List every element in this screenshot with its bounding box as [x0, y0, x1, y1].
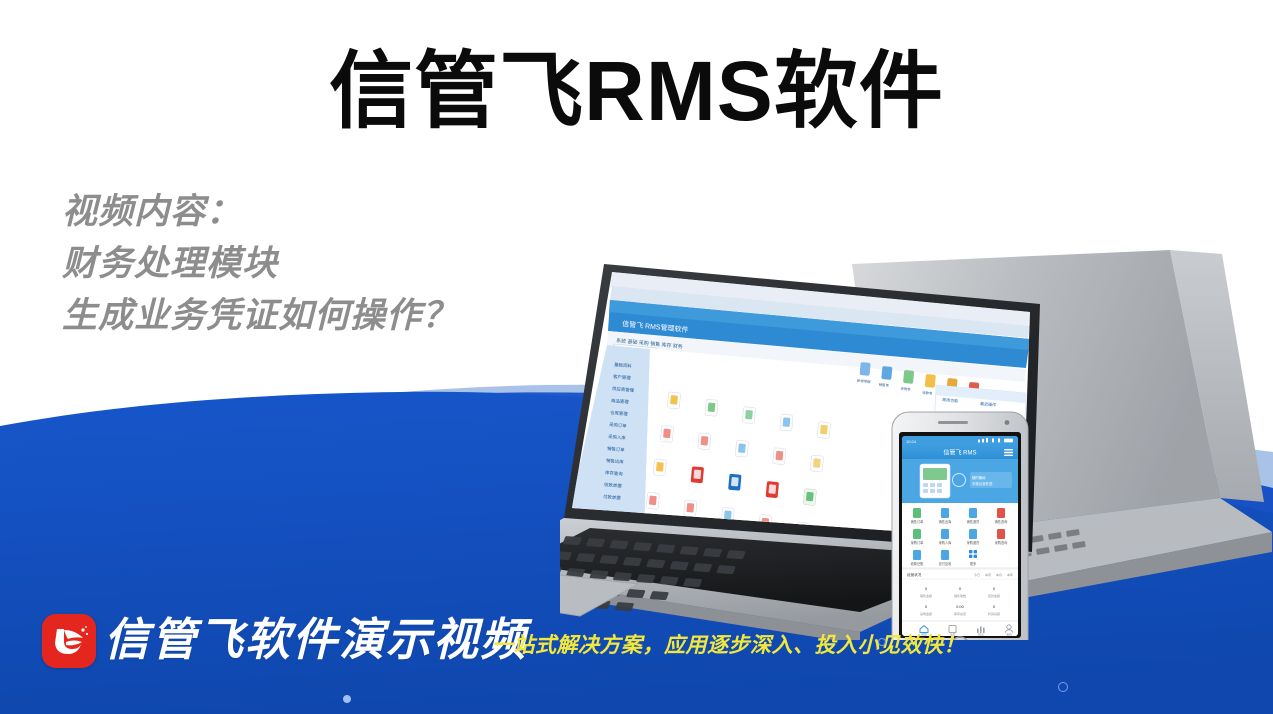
svg-text:销售订单: 销售订单 [911, 519, 925, 524]
svg-text:回款金额: 回款金额 [988, 593, 1000, 598]
svg-text:采购订单: 采购订单 [911, 540, 925, 545]
svg-text:销售金额: 销售金额 [920, 593, 932, 598]
svg-text:随时随地: 随时随地 [972, 475, 986, 480]
decorative-dot [878, 638, 886, 646]
svg-text:本年: 本年 [1007, 572, 1013, 577]
svg-text:10:24: 10:24 [906, 439, 917, 444]
subtitle-line-1: 视频内容： [62, 186, 458, 238]
svg-text:销售单: 销售单 [879, 382, 890, 388]
svg-text:经营状况: 经营状况 [907, 572, 922, 577]
svg-text:更多: 更多 [970, 561, 976, 566]
svg-text:我的: 我的 [1006, 632, 1012, 636]
svg-text:收款记账: 收款记账 [911, 561, 925, 566]
svg-text:库存总值: 库存总值 [954, 611, 966, 616]
svg-text:今日: 今日 [974, 572, 980, 577]
svg-text:本周: 本周 [985, 572, 991, 577]
svg-text:掌握经营数据: 掌握经营数据 [972, 481, 993, 486]
brand-tagline: 一站式解决方案，应用逐步深入、投入小见效快！ [492, 632, 965, 660]
svg-text:销售退货: 销售退货 [967, 519, 980, 524]
svg-text:本月: 本月 [996, 572, 1002, 577]
subtitle-line-2: 财务处理模块 [62, 238, 458, 290]
svg-text:采购入库: 采购入库 [939, 540, 953, 545]
slide-canvas: 信管飞RMS软件 视频内容： 财务处理模块 生成业务凭证如何操作？ [0, 0, 1273, 714]
phone-device: 10:24 信管飞 RMS [892, 412, 1028, 640]
phone-hamburger-menu-icon [1004, 449, 1013, 456]
svg-text:利润总额: 利润总额 [988, 611, 1000, 616]
svg-text:信管飞 RMS: 信管飞 RMS [943, 449, 976, 457]
phone-front-camera-icon [1005, 420, 1010, 425]
decorative-dot [1058, 682, 1068, 692]
svg-text:采购金额: 采购金额 [920, 611, 932, 616]
svg-text:销售查询: 销售查询 [995, 519, 1008, 524]
flying-bird-logo-icon [42, 614, 96, 668]
svg-text:0.00: 0.00 [956, 604, 965, 609]
svg-text:销售出库: 销售出库 [939, 519, 953, 524]
svg-text:收款单: 收款单 [922, 390, 933, 396]
svg-text:采购查询: 采购查询 [995, 540, 1008, 545]
device-showcase-image: 信管飞 RMS管理软件 系统 基础 采购 销售 库存 财务 工作台 基础资料 客… [560, 240, 1273, 640]
svg-text:报表: 报表 [978, 632, 984, 636]
svg-text:应付应收: 应付应收 [939, 561, 953, 566]
svg-text:采购退货: 采购退货 [967, 540, 980, 545]
brand-name: 信管飞软件演示视频 [104, 611, 527, 669]
phone-earpiece [938, 421, 968, 424]
svg-text:销售笔数: 销售笔数 [954, 593, 966, 598]
brand-logo [42, 614, 96, 668]
page-title: 信管飞RMS软件 [0, 46, 1273, 137]
video-content-description: 视频内容： 财务处理模块 生成业务凭证如何操作？ [62, 186, 458, 342]
subtitle-line-3: 生成业务凭证如何操作？ [62, 290, 458, 342]
decorative-dot [343, 695, 351, 703]
phone-screen: 10:24 信管飞 RMS [902, 436, 1018, 636]
svg-text:采购单: 采购单 [900, 386, 911, 392]
